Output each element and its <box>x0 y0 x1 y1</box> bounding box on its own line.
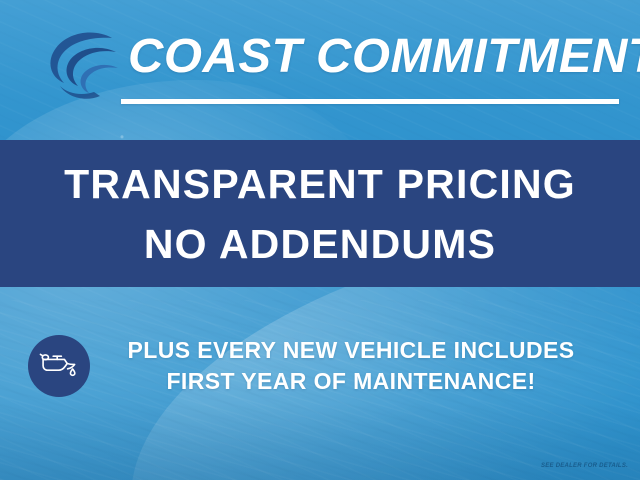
promo-badge <box>28 335 90 397</box>
page-title: COAST COMMITMENT <box>128 26 634 88</box>
promo-section: PLUS EVERY NEW VEHICLE INCLUDES FIRST YE… <box>0 328 640 404</box>
promo-line-2: FIRST YEAR OF MAINTENANCE! <box>112 366 590 397</box>
oil-can-icon <box>39 348 79 384</box>
disclaimer-text: SEE DEALER FOR DETAILS. <box>541 462 628 470</box>
coast-commitment-banner: COAST COMMITMENT TRANSPARENT PRICING NO … <box>0 0 640 480</box>
header-divider <box>121 99 619 104</box>
promo-text-block: PLUS EVERY NEW VEHICLE INCLUDES FIRST YE… <box>112 335 590 397</box>
banner-header: COAST COMMITMENT <box>0 0 640 140</box>
promo-line-1: PLUS EVERY NEW VEHICLE INCLUDES <box>112 335 590 366</box>
headline-band: TRANSPARENT PRICING NO ADDENDUMS <box>0 140 640 287</box>
coast-wave-logo-icon <box>34 22 126 110</box>
headline-line-1: TRANSPARENT PRICING <box>64 157 576 211</box>
headline-line-2: NO ADDENDUMS <box>144 217 496 271</box>
